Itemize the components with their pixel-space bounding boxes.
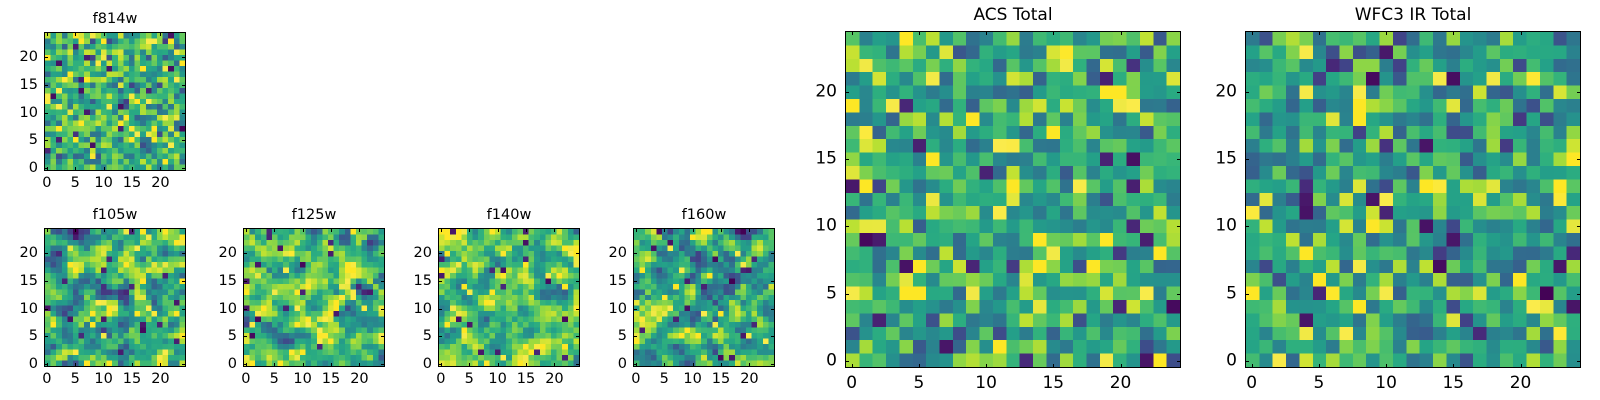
panel-f814w: f814w0510152005101520: [44, 32, 186, 171]
xtick-f105w-3: [132, 363, 133, 367]
xtick-f814w-1: [75, 167, 76, 171]
plot-area-f814w: [44, 32, 186, 171]
ytick-wfc3-ir-total-1: [1245, 294, 1249, 295]
ytick-f140w-4: [438, 253, 442, 254]
ytick-right-f814w-2: [182, 113, 186, 114]
ytick-right-f105w-2: [182, 309, 186, 310]
xticklabel-f160w-2: 10: [683, 372, 701, 387]
xtick-top-f105w-2: [104, 228, 105, 232]
ytick-right-f814w-3: [182, 85, 186, 86]
xtick-top-f125w-1: [274, 228, 275, 232]
heatmap-f160w: [634, 229, 774, 366]
ytick-f140w-3: [438, 281, 442, 282]
yticklabel-f814w-4: 20: [20, 50, 38, 65]
xtick-top-f105w-4: [160, 228, 161, 232]
xticklabel-wfc3-ir-total-3: 15: [1442, 375, 1464, 392]
yticklabel-f814w-3: 15: [20, 78, 38, 93]
ytick-f160w-3: [633, 281, 637, 282]
xticklabel-acs-total-0: 0: [846, 375, 857, 392]
xtick-f814w-4: [160, 167, 161, 171]
ytick-f125w-4: [243, 253, 247, 254]
yticklabel-f160w-3: 15: [609, 274, 627, 289]
xtick-top-f105w-1: [75, 228, 76, 232]
ytick-acs-total-2: [845, 226, 849, 227]
ytick-acs-total-3: [845, 159, 849, 160]
xtick-wfc3-ir-total-4: [1521, 364, 1522, 368]
xticklabel-f105w-1: 5: [71, 372, 80, 387]
xtick-top-f160w-0: [636, 228, 637, 232]
heatmap-wfc3-ir-total: [1246, 32, 1580, 367]
xticklabel-f125w-3: 15: [322, 372, 340, 387]
yticklabel-f140w-3: 15: [414, 274, 432, 289]
xtick-f125w-2: [303, 363, 304, 367]
heatmap-f814w: [45, 33, 185, 170]
ytick-right-f140w-3: [576, 281, 580, 282]
xticklabel-f814w-2: 10: [94, 176, 112, 191]
xticklabel-f140w-1: 5: [465, 372, 474, 387]
yticklabel-f140w-1: 5: [423, 329, 432, 344]
plot-area-wfc3-ir-total: [1245, 31, 1581, 368]
yticklabel-wfc3-ir-total-4: 20: [1215, 83, 1237, 100]
xtick-top-f814w-0: [47, 32, 48, 36]
xtick-f160w-1: [664, 363, 665, 367]
yticklabel-f814w-0: 0: [29, 161, 38, 176]
heatmap-f105w: [45, 229, 185, 366]
xtick-top-f814w-1: [75, 32, 76, 36]
ytick-right-wfc3-ir-total-4: [1577, 92, 1581, 93]
xticklabel-f105w-3: 15: [123, 372, 141, 387]
ytick-right-f160w-4: [771, 253, 775, 254]
ytick-f125w-2: [243, 309, 247, 310]
xticklabel-f160w-1: 5: [660, 372, 669, 387]
ytick-right-f105w-0: [182, 364, 186, 365]
ytick-right-wfc3-ir-total-2: [1577, 226, 1581, 227]
panel-title-f125w: f125w: [243, 208, 385, 223]
ytick-right-wfc3-ir-total-3: [1577, 159, 1581, 160]
ytick-right-f105w-1: [182, 336, 186, 337]
plot-area-f140w: [438, 228, 580, 367]
figure-canvas: f814w0510152005101520f105w05101520051015…: [0, 0, 1600, 400]
xticklabel-f105w-4: 20: [151, 372, 169, 387]
plot-area-f160w: [633, 228, 775, 367]
ytick-f160w-1: [633, 336, 637, 337]
ytick-f105w-1: [44, 336, 48, 337]
xtick-top-f125w-4: [359, 228, 360, 232]
panel-f105w: f105w0510152005101520: [44, 228, 186, 367]
xtick-f105w-1: [75, 363, 76, 367]
xtick-top-f140w-4: [554, 228, 555, 232]
ytick-f160w-2: [633, 309, 637, 310]
ytick-right-f140w-2: [576, 309, 580, 310]
xtick-top-f814w-4: [160, 32, 161, 36]
panel-title-f140w: f140w: [438, 208, 580, 223]
ytick-acs-total-1: [845, 294, 849, 295]
xtick-top-f105w-3: [132, 228, 133, 232]
ytick-f105w-4: [44, 253, 48, 254]
xtick-top-acs-total-3: [1053, 31, 1054, 35]
yticklabel-acs-total-0: 0: [826, 353, 837, 370]
ytick-f105w-3: [44, 281, 48, 282]
xtick-top-wfc3-ir-total-2: [1386, 31, 1387, 35]
xtick-top-f814w-3: [132, 32, 133, 36]
ytick-right-f125w-2: [381, 309, 385, 310]
ytick-right-f814w-1: [182, 140, 186, 141]
yticklabel-f125w-3: 15: [219, 274, 237, 289]
xtick-f140w-2: [498, 363, 499, 367]
xtick-top-f125w-2: [303, 228, 304, 232]
ytick-wfc3-ir-total-4: [1245, 92, 1249, 93]
yticklabel-f105w-0: 0: [29, 357, 38, 372]
xtick-wfc3-ir-total-2: [1386, 364, 1387, 368]
xtick-top-wfc3-ir-total-4: [1521, 31, 1522, 35]
ytick-right-acs-total-4: [1177, 92, 1181, 93]
yticklabel-f814w-2: 10: [20, 105, 38, 120]
xtick-top-f160w-1: [664, 228, 665, 232]
ytick-f814w-1: [44, 140, 48, 141]
panel-acs-total: ACS Total0510152005101520: [845, 31, 1181, 368]
xtick-f140w-3: [526, 363, 527, 367]
ytick-right-acs-total-0: [1177, 361, 1181, 362]
ytick-f125w-3: [243, 281, 247, 282]
yticklabel-f125w-4: 20: [219, 246, 237, 261]
xticklabel-f105w-0: 0: [42, 372, 51, 387]
xtick-f160w-2: [693, 363, 694, 367]
xtick-acs-total-3: [1053, 364, 1054, 368]
xtick-top-f140w-1: [469, 228, 470, 232]
panel-title-wfc3-ir-total: WFC3 IR Total: [1245, 7, 1581, 24]
ytick-right-acs-total-1: [1177, 294, 1181, 295]
heatmap-f125w: [244, 229, 384, 366]
xtick-top-f160w-4: [749, 228, 750, 232]
yticklabel-f160w-1: 5: [618, 329, 627, 344]
xtick-top-f125w-0: [246, 228, 247, 232]
xtick-top-f105w-0: [47, 228, 48, 232]
xtick-top-f140w-2: [498, 228, 499, 232]
yticklabel-f125w-2: 10: [219, 301, 237, 316]
panel-wfc3-ir-total: WFC3 IR Total0510152005101520: [1245, 31, 1581, 368]
xtick-top-acs-total-4: [1121, 31, 1122, 35]
xtick-acs-total-0: [852, 364, 853, 368]
ytick-right-f140w-1: [576, 336, 580, 337]
ytick-right-f814w-0: [182, 168, 186, 169]
xticklabel-wfc3-ir-total-1: 5: [1313, 375, 1324, 392]
panel-title-f105w: f105w: [44, 208, 186, 223]
yticklabel-acs-total-3: 15: [815, 151, 837, 168]
ytick-f160w-4: [633, 253, 637, 254]
yticklabel-acs-total-1: 5: [826, 285, 837, 302]
xticklabel-wfc3-ir-total-0: 0: [1246, 375, 1257, 392]
yticklabel-acs-total-2: 10: [815, 218, 837, 235]
xticklabel-f140w-3: 15: [517, 372, 535, 387]
xtick-top-acs-total-1: [919, 31, 920, 35]
ytick-acs-total-0: [845, 361, 849, 362]
xticklabel-f125w-0: 0: [241, 372, 250, 387]
xtick-top-f160w-2: [693, 228, 694, 232]
yticklabel-f160w-4: 20: [609, 246, 627, 261]
xtick-f814w-3: [132, 167, 133, 171]
xtick-wfc3-ir-total-1: [1319, 364, 1320, 368]
xtick-wfc3-ir-total-0: [1252, 364, 1253, 368]
xtick-f140w-4: [554, 363, 555, 367]
plot-area-f105w: [44, 228, 186, 367]
xticklabel-f814w-4: 20: [151, 176, 169, 191]
panel-f140w: f140w0510152005101520: [438, 228, 580, 367]
yticklabel-f105w-3: 15: [20, 274, 38, 289]
yticklabel-f105w-1: 5: [29, 329, 38, 344]
xtick-wfc3-ir-total-3: [1453, 364, 1454, 368]
ytick-right-f105w-4: [182, 253, 186, 254]
xtick-top-f125w-3: [331, 228, 332, 232]
ytick-wfc3-ir-total-2: [1245, 226, 1249, 227]
ytick-right-acs-total-2: [1177, 226, 1181, 227]
ytick-right-f125w-0: [381, 364, 385, 365]
ytick-right-f140w-4: [576, 253, 580, 254]
xtick-top-acs-total-2: [986, 31, 987, 35]
ytick-right-wfc3-ir-total-0: [1577, 361, 1581, 362]
ytick-right-f814w-4: [182, 57, 186, 58]
yticklabel-f160w-2: 10: [609, 301, 627, 316]
xticklabel-f140w-0: 0: [436, 372, 445, 387]
xtick-f105w-2: [104, 363, 105, 367]
xticklabel-f160w-3: 15: [712, 372, 730, 387]
yticklabel-f160w-0: 0: [618, 357, 627, 372]
ytick-f105w-0: [44, 364, 48, 365]
yticklabel-wfc3-ir-total-3: 15: [1215, 151, 1237, 168]
yticklabel-f105w-2: 10: [20, 301, 38, 316]
ytick-f140w-1: [438, 336, 442, 337]
xtick-f105w-4: [160, 363, 161, 367]
xtick-top-f160w-3: [721, 228, 722, 232]
panel-title-f160w: f160w: [633, 208, 775, 223]
ytick-right-f125w-1: [381, 336, 385, 337]
xtick-top-wfc3-ir-total-3: [1453, 31, 1454, 35]
xtick-f125w-1: [274, 363, 275, 367]
xticklabel-f160w-4: 20: [740, 372, 758, 387]
yticklabel-f140w-4: 20: [414, 246, 432, 261]
ytick-acs-total-4: [845, 92, 849, 93]
ytick-f140w-2: [438, 309, 442, 310]
yticklabel-wfc3-ir-total-0: 0: [1226, 353, 1237, 370]
xtick-f125w-3: [331, 363, 332, 367]
panel-title-f814w: f814w: [44, 12, 186, 27]
ytick-f105w-2: [44, 309, 48, 310]
xticklabel-f125w-4: 20: [350, 372, 368, 387]
ytick-right-wfc3-ir-total-1: [1577, 294, 1581, 295]
xticklabel-acs-total-4: 20: [1110, 375, 1132, 392]
xticklabel-f814w-3: 15: [123, 176, 141, 191]
ytick-right-f125w-4: [381, 253, 385, 254]
ytick-f140w-0: [438, 364, 442, 365]
ytick-f160w-0: [633, 364, 637, 365]
xtick-f125w-4: [359, 363, 360, 367]
xticklabel-f814w-0: 0: [42, 176, 51, 191]
ytick-f814w-3: [44, 85, 48, 86]
yticklabel-f814w-1: 5: [29, 133, 38, 148]
yticklabel-wfc3-ir-total-1: 5: [1226, 285, 1237, 302]
panel-title-acs-total: ACS Total: [845, 7, 1181, 24]
yticklabel-f140w-2: 10: [414, 301, 432, 316]
xtick-top-wfc3-ir-total-0: [1252, 31, 1253, 35]
xticklabel-acs-total-2: 10: [975, 375, 997, 392]
ytick-f814w-4: [44, 57, 48, 58]
yticklabel-f125w-0: 0: [228, 357, 237, 372]
xtick-acs-total-1: [919, 364, 920, 368]
ytick-f125w-0: [243, 364, 247, 365]
yticklabel-f105w-4: 20: [20, 246, 38, 261]
xticklabel-f125w-2: 10: [293, 372, 311, 387]
ytick-right-f160w-2: [771, 309, 775, 310]
ytick-f814w-2: [44, 113, 48, 114]
xtick-f140w-1: [469, 363, 470, 367]
xticklabel-f125w-1: 5: [270, 372, 279, 387]
yticklabel-wfc3-ir-total-2: 10: [1215, 218, 1237, 235]
ytick-f814w-0: [44, 168, 48, 169]
xticklabel-f160w-0: 0: [631, 372, 640, 387]
heatmap-f140w: [439, 229, 579, 366]
xtick-f160w-4: [749, 363, 750, 367]
xticklabel-f814w-1: 5: [71, 176, 80, 191]
panel-f160w: f160w0510152005101520: [633, 228, 775, 367]
yticklabel-acs-total-4: 20: [815, 83, 837, 100]
ytick-f125w-1: [243, 336, 247, 337]
ytick-right-f140w-0: [576, 364, 580, 365]
xtick-acs-total-2: [986, 364, 987, 368]
xticklabel-acs-total-3: 15: [1042, 375, 1064, 392]
xticklabel-f105w-2: 10: [94, 372, 112, 387]
xticklabel-f140w-4: 20: [545, 372, 563, 387]
xticklabel-wfc3-ir-total-2: 10: [1375, 375, 1397, 392]
ytick-wfc3-ir-total-3: [1245, 159, 1249, 160]
xtick-top-f814w-2: [104, 32, 105, 36]
xtick-f814w-2: [104, 167, 105, 171]
ytick-right-f160w-0: [771, 364, 775, 365]
ytick-wfc3-ir-total-0: [1245, 361, 1249, 362]
xtick-f160w-3: [721, 363, 722, 367]
yticklabel-f140w-0: 0: [423, 357, 432, 372]
ytick-right-f105w-3: [182, 281, 186, 282]
xtick-top-f140w-0: [441, 228, 442, 232]
ytick-right-acs-total-3: [1177, 159, 1181, 160]
ytick-right-f125w-3: [381, 281, 385, 282]
xtick-top-acs-total-0: [852, 31, 853, 35]
xticklabel-f140w-2: 10: [488, 372, 506, 387]
plot-area-acs-total: [845, 31, 1181, 368]
xticklabel-acs-total-1: 5: [913, 375, 924, 392]
xtick-acs-total-4: [1121, 364, 1122, 368]
panel-f125w: f125w0510152005101520: [243, 228, 385, 367]
xtick-top-wfc3-ir-total-1: [1319, 31, 1320, 35]
heatmap-acs-total: [846, 32, 1180, 367]
yticklabel-f125w-1: 5: [228, 329, 237, 344]
ytick-right-f160w-3: [771, 281, 775, 282]
plot-area-f125w: [243, 228, 385, 367]
ytick-right-f160w-1: [771, 336, 775, 337]
xticklabel-wfc3-ir-total-4: 20: [1510, 375, 1532, 392]
xtick-top-f140w-3: [526, 228, 527, 232]
